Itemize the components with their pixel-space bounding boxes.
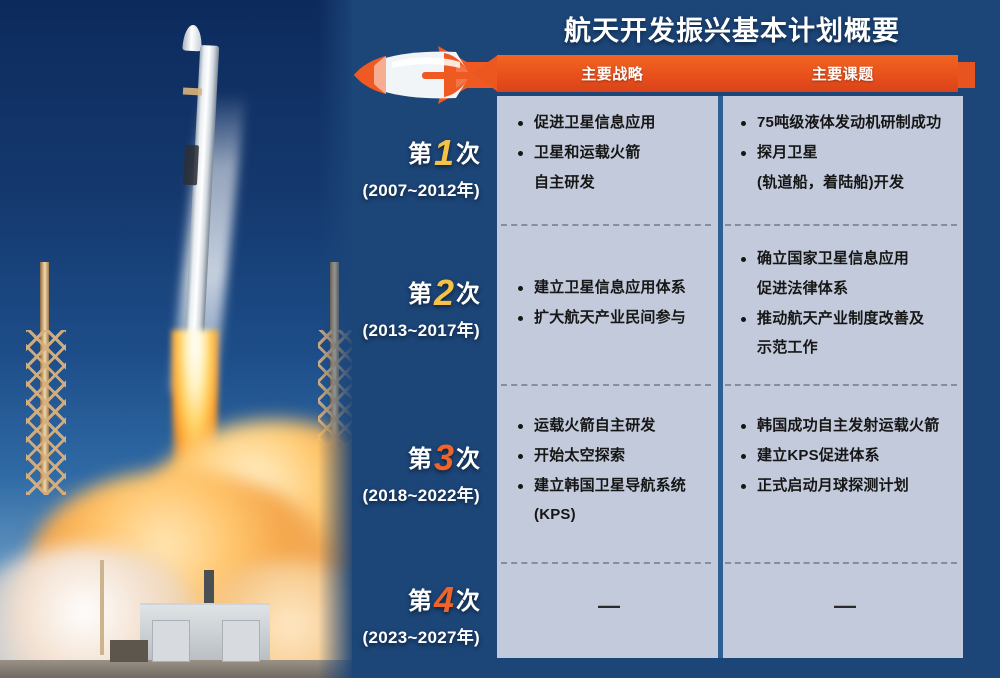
cell-strategy-1: 促进卫星信息应用 卫星和运载火箭 自主研发 bbox=[505, 112, 711, 201]
phase-period-2: (2013~2017年) bbox=[320, 316, 480, 341]
row-separator bbox=[501, 224, 711, 226]
list-item: 促进卫星信息应用 bbox=[515, 112, 703, 135]
phase-label-4: 第4次 (2023~2027年) bbox=[320, 582, 480, 648]
list-item: 确立国家卫星信息应用 bbox=[738, 248, 952, 271]
phase-title-1: 第1次 bbox=[320, 135, 480, 171]
phase-label-2: 第2次 (2013~2017年) bbox=[320, 275, 480, 341]
phase-suffix: 次 bbox=[456, 588, 480, 615]
list-item-continuation: (KPS) bbox=[515, 504, 703, 527]
phase-label-1: 第1次 (2007~2012年) bbox=[320, 135, 480, 201]
phase-suffix: 次 bbox=[456, 281, 480, 308]
list-item: 卫星和运载火箭 bbox=[515, 142, 703, 165]
cell-strategy-4: — bbox=[505, 586, 711, 626]
column-header-tasks: 主要课题 bbox=[728, 55, 959, 92]
phase-title-2: 第2次 bbox=[320, 275, 480, 311]
cell-strategy-2: 建立卫星信息应用体系 扩大航天产业民间参与 bbox=[505, 277, 711, 337]
phase-number: 3 bbox=[432, 437, 456, 478]
bullet-list: 促进卫星信息应用 卫星和运载火箭 自主研发 bbox=[515, 112, 703, 194]
launch-tower-left-lattice bbox=[26, 330, 66, 495]
column-header-bar: 主要战略 主要课题 bbox=[497, 55, 958, 92]
list-item-continuation: 自主研发 bbox=[515, 172, 703, 195]
row-separator bbox=[725, 224, 957, 226]
phase-title-3: 第3次 bbox=[320, 440, 480, 476]
phase-suffix: 次 bbox=[456, 141, 480, 168]
cell-tasks-1: 75吨级液体发动机研制成功 探月卫星 (轨道船，着陆船)开发 bbox=[728, 112, 960, 201]
phase-label-3: 第3次 (2018~2022年) bbox=[320, 440, 480, 506]
column-header-arrow bbox=[472, 55, 498, 92]
infographic-root: 航天开发振兴基本计划概要 主要战略 主要课题 bbox=[0, 0, 1000, 678]
bullet-list: 建立卫星信息应用体系 扩大航天产业民间参与 bbox=[515, 277, 703, 330]
phase-prefix: 第 bbox=[408, 446, 432, 473]
rocket-launch-photo bbox=[0, 0, 352, 678]
list-item-continuation: (轨道船，着陆船)开发 bbox=[738, 172, 952, 195]
lightning-mast bbox=[100, 560, 104, 655]
cell-tasks-3: 韩国成功自主发射运载火箭 建立KPS促进体系 正式启动月球探测计划 bbox=[728, 415, 960, 504]
list-item: 建立KPS促进体系 bbox=[738, 445, 952, 468]
row-separator bbox=[725, 384, 957, 386]
pad-building-door bbox=[152, 620, 190, 662]
bullet-list: 韩国成功自主发射运载火箭 建立KPS促进体系 正式启动月球探测计划 bbox=[738, 415, 952, 497]
launch-pad-ground bbox=[0, 660, 352, 678]
cell-tasks-2: 确立国家卫星信息应用 促进法律体系 推动航天产业制度改善及 示范工作 bbox=[728, 248, 960, 367]
cell-tasks-4: — bbox=[728, 586, 960, 626]
list-item: 韩国成功自主发射运载火箭 bbox=[738, 415, 952, 438]
rocket-band bbox=[183, 88, 202, 96]
bullet-list: 运载火箭自主研发 开始太空探索 建立韩国卫星导航系统 (KPS) bbox=[515, 415, 703, 527]
phase-number: 2 bbox=[432, 272, 456, 313]
phase-title-4: 第4次 bbox=[320, 582, 480, 618]
pad-equipment bbox=[110, 640, 148, 662]
rocket-engine-section bbox=[183, 145, 199, 186]
list-item: 运载火箭自主研发 bbox=[515, 415, 703, 438]
column-header-strategy: 主要战略 bbox=[497, 55, 728, 92]
phase-period-4: (2023~2027年) bbox=[320, 623, 480, 648]
list-item-continuation: 示范工作 bbox=[738, 337, 952, 360]
list-item: 扩大航天产业民间参与 bbox=[515, 307, 703, 330]
phase-period-1: (2007~2012年) bbox=[320, 176, 480, 201]
phase-prefix: 第 bbox=[408, 141, 432, 168]
list-item: 75吨级液体发动机研制成功 bbox=[738, 112, 952, 135]
bullet-list: 75吨级液体发动机研制成功 探月卫星 (轨道船，着陆船)开发 bbox=[738, 112, 952, 194]
list-item: 建立韩国卫星导航系统 bbox=[515, 475, 703, 498]
bullet-list: 确立国家卫星信息应用 促进法律体系 推动航天产业制度改善及 示范工作 bbox=[738, 248, 952, 360]
phase-suffix: 次 bbox=[456, 446, 480, 473]
page-title: 航天开发振兴基本计划概要 bbox=[497, 6, 967, 50]
list-item: 正式启动月球探测计划 bbox=[738, 475, 952, 498]
row-separator bbox=[501, 384, 711, 386]
phase-period-3: (2018~2022年) bbox=[320, 481, 480, 506]
list-item: 探月卫星 bbox=[738, 142, 952, 165]
phase-number: 4 bbox=[432, 579, 456, 620]
phase-prefix: 第 bbox=[408, 588, 432, 615]
row-separator bbox=[501, 562, 711, 564]
list-item: 开始太空探索 bbox=[515, 445, 703, 468]
phase-prefix: 第 bbox=[408, 281, 432, 308]
list-item: 推动航天产业制度改善及 bbox=[738, 308, 952, 331]
pad-building-door bbox=[222, 620, 260, 662]
phase-number: 1 bbox=[432, 132, 456, 173]
row-separator bbox=[725, 562, 957, 564]
cell-strategy-3: 运载火箭自主研发 开始太空探索 建立韩国卫星导航系统 (KPS) bbox=[505, 415, 711, 534]
list-item: 建立卫星信息应用体系 bbox=[515, 277, 703, 300]
list-item-continuation: 促进法律体系 bbox=[738, 278, 952, 301]
